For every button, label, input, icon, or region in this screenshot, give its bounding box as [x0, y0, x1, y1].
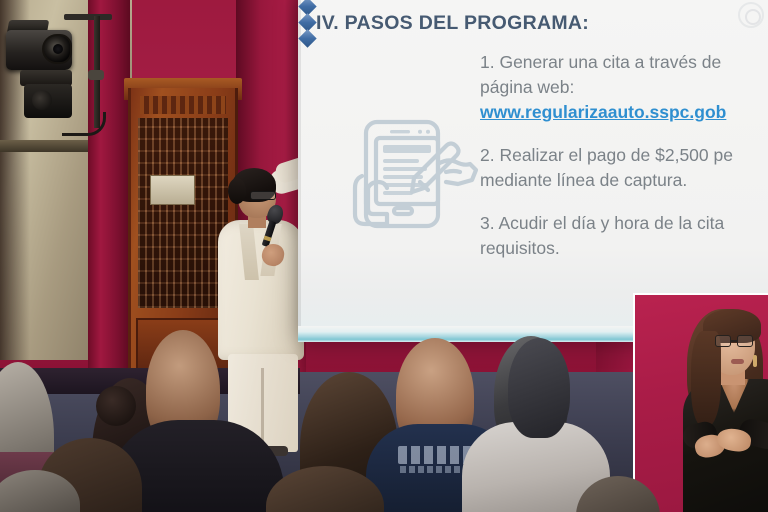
- slide-step-2: 2. Realizar el pago de $2,500 pe mediant…: [480, 143, 768, 193]
- sign-language-interpreter-inset: [633, 293, 768, 512]
- bullet-diamonds: [298, 0, 314, 45]
- camera-cable: [62, 112, 106, 136]
- broadcast-camera: [2, 4, 112, 134]
- door-plaque: [150, 175, 195, 205]
- broadcast-frame: IV. PASOS DEL PROGRAMA:: [0, 0, 768, 512]
- slide-steps: 1. Generar una cita a través de página w…: [480, 50, 768, 279]
- camera-knob: [88, 70, 104, 80]
- camera-mount-arm: [64, 14, 112, 20]
- government-seal-watermark-icon: [738, 2, 764, 28]
- step-3-line-1: 3. Acudir el día y hora de la cita: [480, 211, 768, 236]
- door-carved-header: [140, 96, 226, 114]
- slide-left-edge: [298, 0, 301, 342]
- step-1-line-1: 1. Generar una cita a través de: [480, 50, 768, 75]
- camera-secondary-lens-icon: [32, 90, 52, 110]
- slide-step-1: 1. Generar una cita a través de página w…: [480, 50, 768, 125]
- interpreter-earring: [753, 355, 757, 367]
- program-website-link[interactable]: www.regularizaauto.sspc.gob: [480, 100, 768, 125]
- speaker-hair-bun: [228, 178, 246, 204]
- step-1-line-2: página web:: [480, 75, 768, 100]
- audience-hair-bun: [96, 386, 136, 426]
- glasses-lens-left: [715, 335, 731, 347]
- hand-holding-tablet-with-stylus-icon: [342, 116, 482, 251]
- audience-head: [508, 338, 570, 438]
- presentation-slide: IV. PASOS DEL PROGRAMA:: [298, 0, 768, 342]
- wall-bracket: [0, 140, 96, 152]
- step-2-line-2: mediante línea de captura.: [480, 168, 768, 193]
- step-2-line-1: 2. Realizar el pago de $2,500 pe: [480, 143, 768, 168]
- slide-title: IV. PASOS DEL PROGRAMA:: [316, 12, 589, 35]
- interpreter-mouth: [731, 359, 744, 364]
- diamond-icon: [298, 29, 316, 47]
- slide-step-3: 3. Acudir el día y hora de la cita requi…: [480, 211, 768, 261]
- speaker-glasses-icon: [250, 191, 276, 200]
- interpreter-glasses-icon: [715, 335, 755, 347]
- vest-logo-subtext: [400, 466, 470, 473]
- step-3-line-2: requisitos.: [480, 236, 768, 261]
- glasses-lens-right: [737, 335, 753, 347]
- camera-lens-icon: [42, 34, 72, 64]
